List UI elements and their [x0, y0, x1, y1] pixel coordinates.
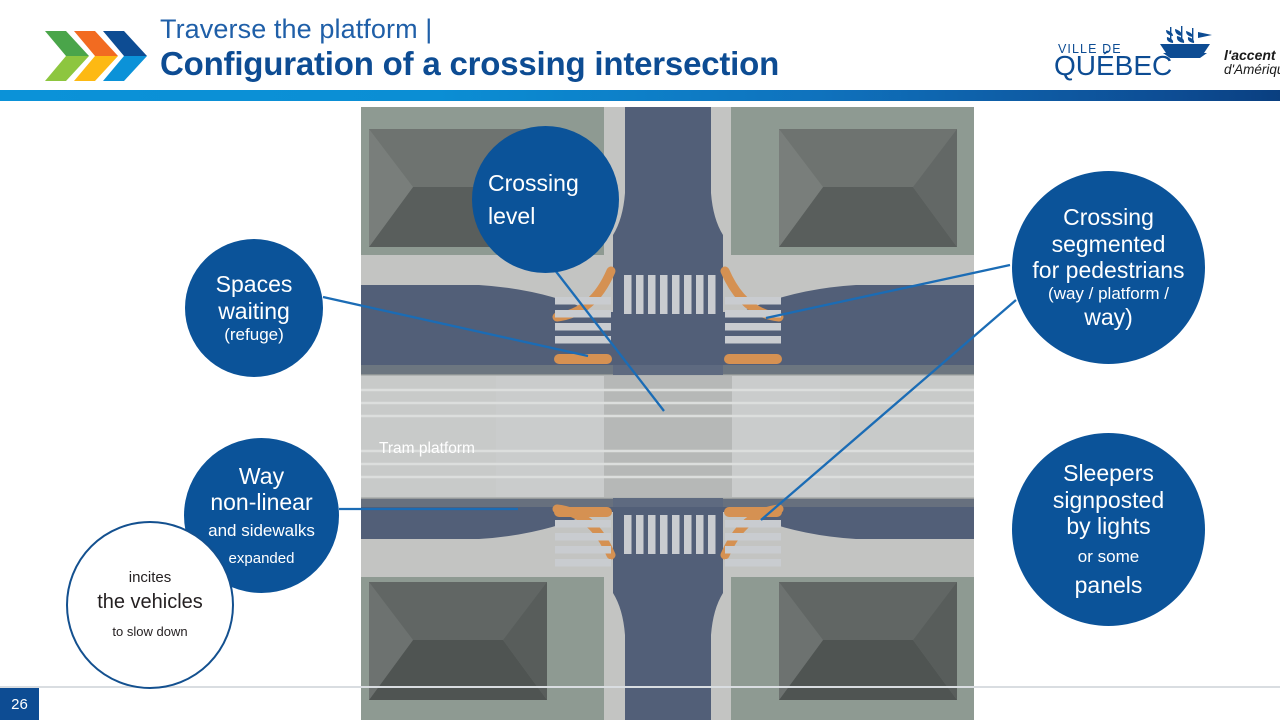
ville-de-quebec-logo: VILLE DE QUÉBEC [1046, 26, 1256, 88]
slide-header: Traverse the platform | Configuration of… [0, 0, 1280, 90]
sailing-ship-icon [1154, 26, 1216, 60]
callout-incites-vehicles[interactable]: incites the vehicles to slow down [66, 521, 234, 689]
callout-line: incites [129, 567, 172, 590]
accent-line-2: d'Amérique [1224, 63, 1280, 77]
callout-line: waiting [218, 298, 290, 325]
callout-line: (way / platform / [1048, 284, 1169, 304]
slide-canvas: Traverse the platform | Configuration of… [0, 0, 1280, 720]
callout-spaces-waiting[interactable]: Spaces waiting (refuge) [185, 239, 323, 377]
callout-line: to slow down [112, 622, 187, 643]
crossing-intersection-diagram: Tram platform [361, 107, 974, 720]
callout-line: non-linear [210, 489, 312, 516]
callout-line: Sleepers [1063, 460, 1154, 487]
header-title-group: Traverse the platform | Configuration of… [160, 14, 960, 84]
accent-tagline: l'accent d'Amérique [1224, 48, 1280, 77]
tram-platform-label: Tram platform [379, 440, 475, 458]
callout-line: Way [239, 463, 284, 490]
callout-line: Crossing [1063, 204, 1154, 231]
callout-line: (refuge) [224, 325, 284, 345]
callout-line: Crossing [488, 167, 579, 200]
callout-line: or some [1078, 547, 1139, 567]
callout-sleepers-signposted[interactable]: Sleepers signposted by lights or some pa… [1012, 433, 1205, 626]
chevrons-logo-icon [44, 30, 149, 82]
callout-line: the vehicles [97, 589, 203, 616]
callout-line: expanded [229, 550, 295, 568]
callout-line: panels [1075, 572, 1143, 599]
footer-divider [0, 686, 1280, 688]
header-accent-rule [0, 90, 1280, 101]
callout-line: for pedestrians [1032, 257, 1184, 284]
callout-crossing-level[interactable]: Crossing level [472, 126, 619, 273]
page-number-badge: 26 [0, 688, 39, 720]
callout-line: level [488, 200, 535, 233]
page-title: Configuration of a crossing intersection [160, 45, 960, 84]
callout-line: by lights [1066, 513, 1150, 540]
accent-line-1: l'accent [1224, 48, 1280, 63]
callout-line: way) [1084, 304, 1133, 331]
page-kicker: Traverse the platform | [160, 14, 960, 44]
callout-line: and sidewalks [208, 521, 315, 541]
callout-line: signposted [1053, 487, 1164, 514]
callout-crossing-segmented[interactable]: Crossing segmented for pedestrians (way … [1012, 171, 1205, 364]
callout-line: Spaces [216, 271, 293, 298]
callout-line: segmented [1052, 231, 1166, 258]
